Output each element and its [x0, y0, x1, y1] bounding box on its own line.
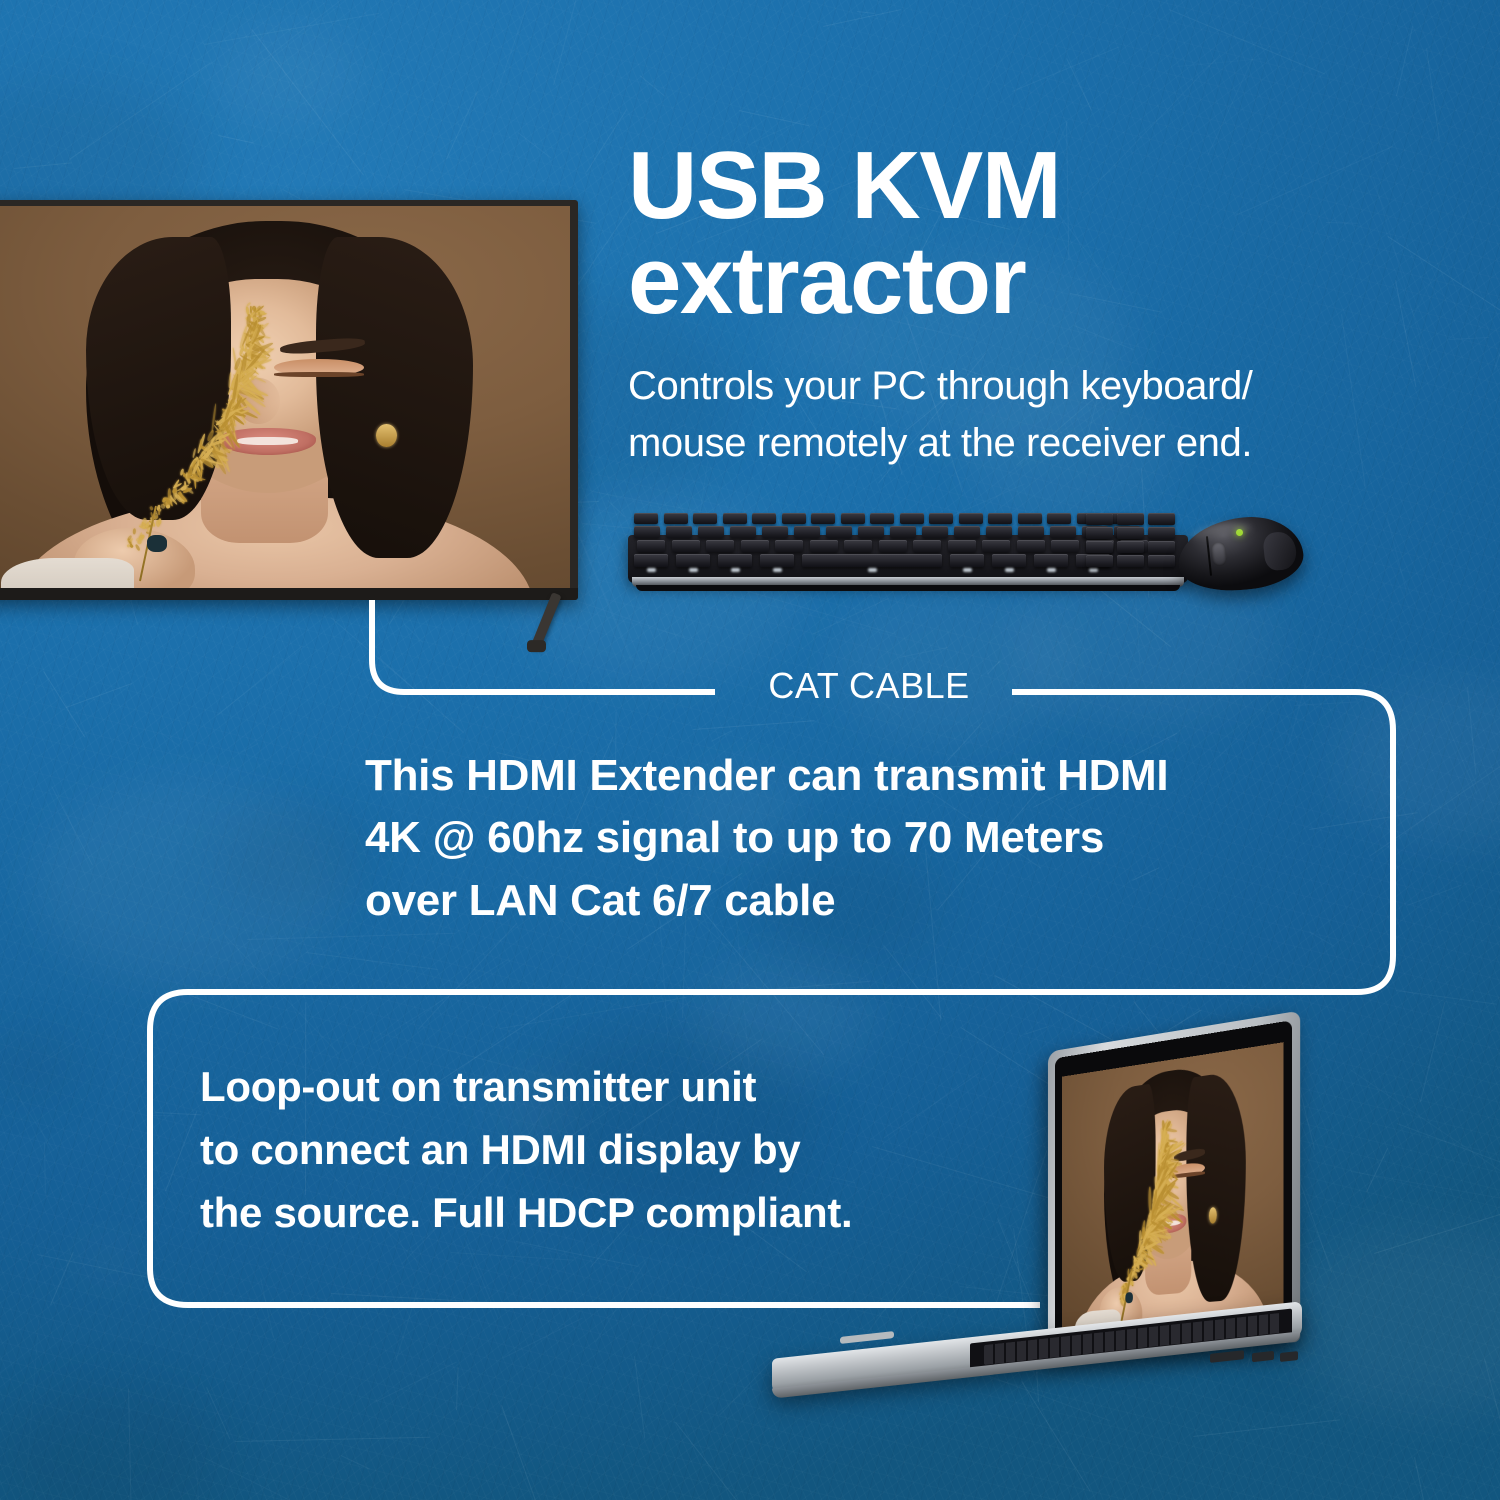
- infographic-canvas: USB KVM extractor Controls your PC throu…: [0, 0, 1500, 1500]
- laptop-front-notch: [840, 1331, 894, 1344]
- portrait-artwork: [0, 206, 570, 589]
- cat-cable-label: CAT CABLE: [724, 668, 1014, 704]
- portrait-artwork-laptop: [1062, 1042, 1283, 1333]
- usb-keyboard: [628, 505, 1188, 595]
- cat-text-line-2: 4K @ 60hz signal to up to 70 Meters: [365, 807, 1365, 869]
- laptop-sdcard-port: [1210, 1350, 1244, 1363]
- cat-text-line-3: over LAN Cat 6/7 cable: [365, 870, 1365, 932]
- tv-screen: [0, 206, 570, 589]
- laptop-hdmi-port: [1252, 1351, 1274, 1362]
- source-laptop: [760, 1030, 1320, 1430]
- usb-mouse: [1178, 510, 1303, 595]
- keyboard-foot: [636, 585, 1180, 591]
- laptop-screen: [1062, 1042, 1283, 1333]
- subtitle-line-1: Controls your PC through keyboard/: [628, 358, 1418, 415]
- laptop-usb-port: [1280, 1351, 1298, 1362]
- tv-chin: [0, 588, 578, 600]
- page-title: USB KVM extractor: [628, 138, 1408, 328]
- cat-box-text: This HDMI Extender can transmit HDMI 4K …: [365, 745, 1365, 932]
- subtitle-line-2: mouse remotely at the receiver end.: [628, 415, 1418, 472]
- keyboard-keys: [634, 511, 1182, 575]
- cat-text-line-1: This HDMI Extender can transmit HDMI: [365, 745, 1365, 807]
- receiver-tv: [0, 200, 578, 600]
- mouse-scroll-wheel: [1211, 541, 1227, 566]
- page-subtitle: Controls your PC through keyboard/ mouse…: [628, 358, 1418, 472]
- title-line-2: extractor: [628, 233, 1408, 328]
- title-line-1: USB KVM: [628, 138, 1408, 233]
